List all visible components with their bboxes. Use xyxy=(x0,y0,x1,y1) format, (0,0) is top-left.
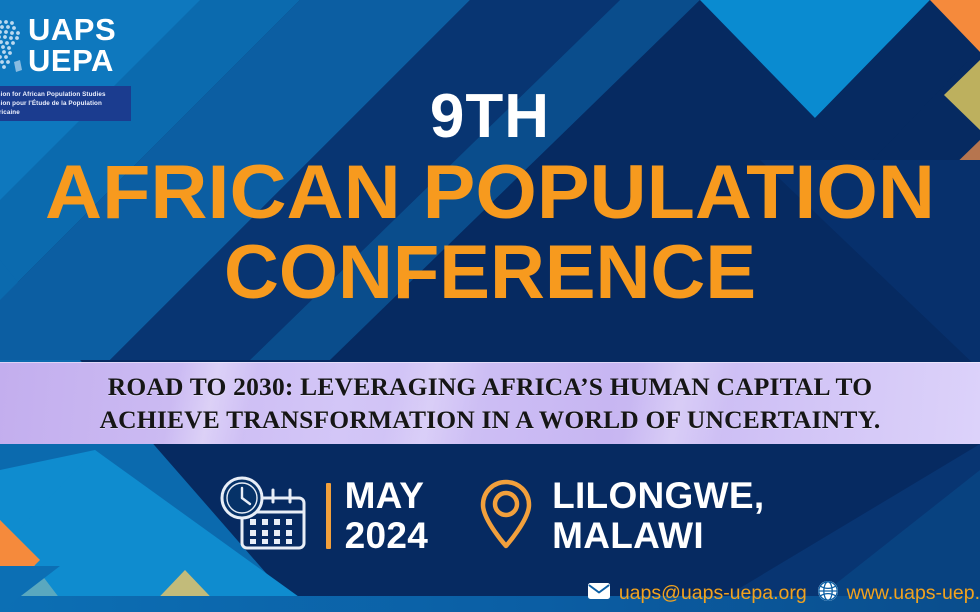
headline-block: 9TH AFRICAN POPULATION CONFERENCE xyxy=(0,84,980,314)
event-location-city: LILONGWE, xyxy=(552,476,764,516)
contact-email[interactable]: uaps@uaps-uepa.org xyxy=(587,582,807,605)
contact-website[interactable]: www.uaps-uep. xyxy=(817,580,980,607)
event-date-year: 2024 xyxy=(345,516,429,556)
event-info-row: MAY 2024 LILONGWE, MALAWI xyxy=(0,466,980,566)
conference-title-line1: AFRICAN POPULATION xyxy=(0,152,980,234)
contact-website-text: www.uaps-uep. xyxy=(847,582,980,604)
event-date-month: MAY xyxy=(345,476,429,516)
theme-line1: ROAD TO 2030: LEVERAGING AFRICA’S HUMAN … xyxy=(108,370,872,403)
event-location: LILONGWE, MALAWI xyxy=(552,476,764,556)
map-pin-icon xyxy=(474,474,538,559)
logo-wordmark: UAPS UEPA xyxy=(28,14,116,76)
event-location-group: LILONGWE, MALAWI xyxy=(474,474,764,559)
event-location-country: MALAWI xyxy=(552,516,764,556)
theme-line2: ACHIEVE TRANSFORMATION IN A WORLD OF UNC… xyxy=(100,403,881,436)
logo-wordmark-line1: UAPS xyxy=(28,14,116,45)
event-date: MAY 2024 xyxy=(345,476,429,556)
contact-email-text: uaps@uaps-uepa.org xyxy=(619,582,807,604)
clock-calendar-icon xyxy=(216,474,312,559)
contact-footer: uaps@uaps-uepa.org www.uaps-uep. xyxy=(0,574,980,612)
envelope-icon xyxy=(587,582,611,605)
theme-banner: ROAD TO 2030: LEVERAGING AFRICA’S HUMAN … xyxy=(0,362,980,444)
globe-icon xyxy=(817,580,839,607)
conference-banner: UAPS UEPA Union for African Population S… xyxy=(0,0,980,612)
logo-wordmark-line2: UEPA xyxy=(28,45,116,76)
event-date-group: MAY 2024 xyxy=(216,474,429,559)
conference-title-line2: CONFERENCE xyxy=(0,232,980,314)
date-divider xyxy=(326,483,331,549)
edition-number: 9TH xyxy=(0,84,980,150)
